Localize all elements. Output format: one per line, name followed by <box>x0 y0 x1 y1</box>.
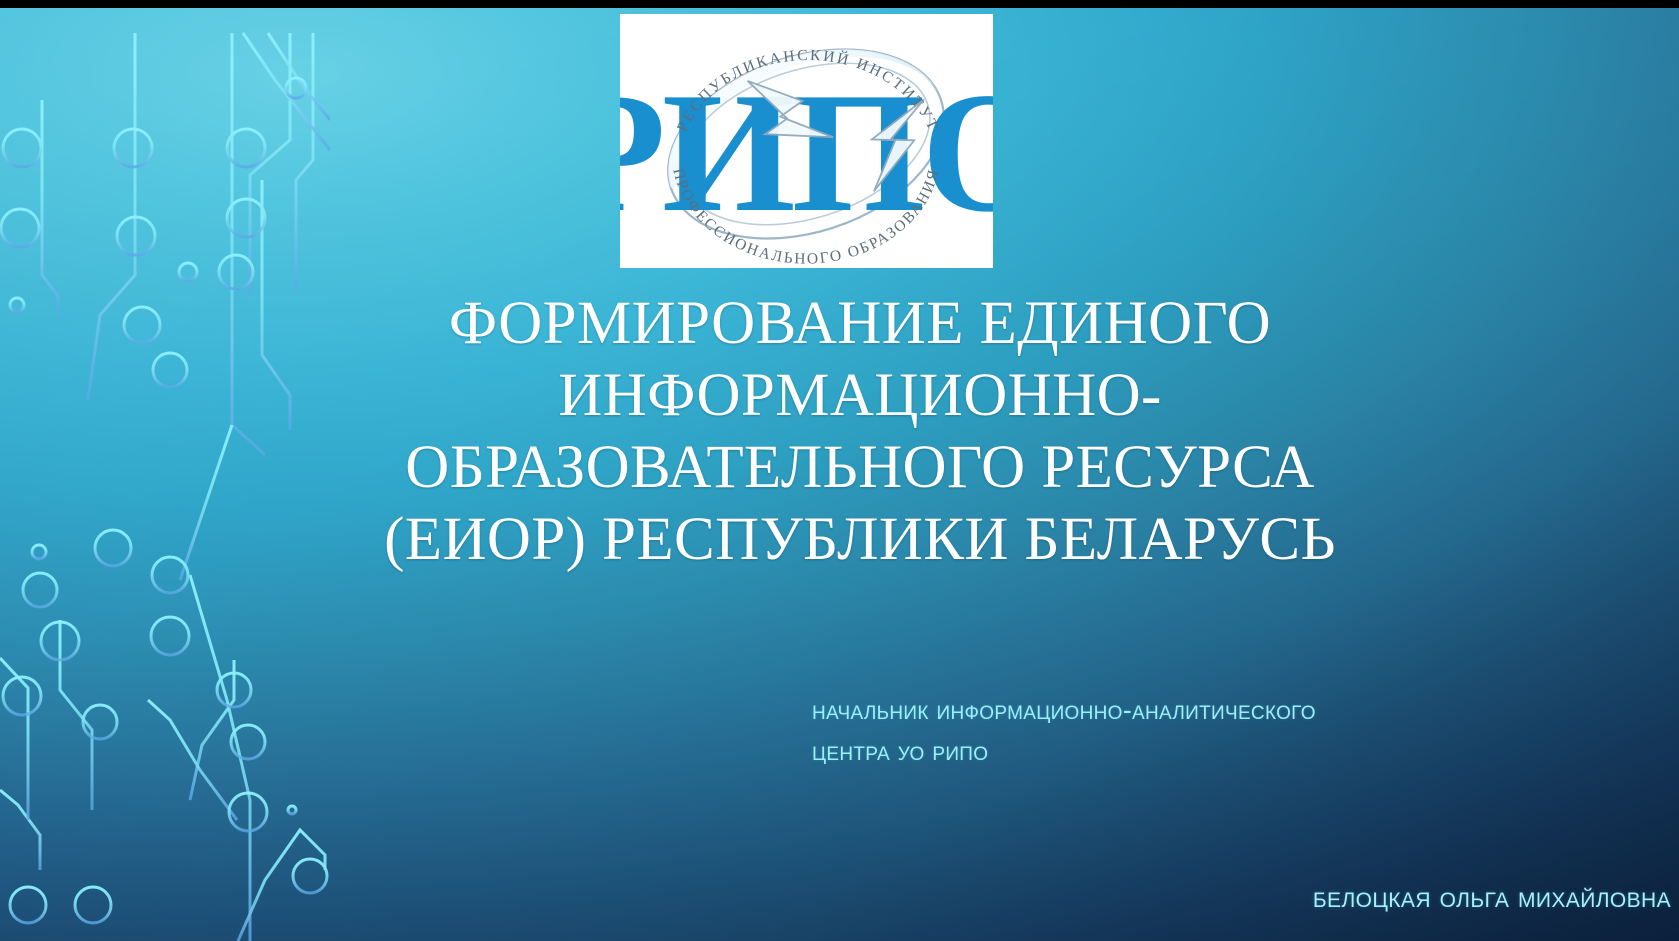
presenter-credit: БЕЛОЦКАЯ ОЛЬГА МИХАЙЛОВНА <box>971 878 1671 918</box>
letterbox-bar-top <box>0 0 1679 8</box>
slide-subtitle: НАЧАЛЬНИК ИНФОРМАЦИОННО-АНАЛИТИЧЕСКОГО Ц… <box>812 690 1552 772</box>
subtitle-line-2: ЦЕНТРА УО РИПО <box>812 731 1552 772</box>
svg-text:РИПО: РИПО <box>620 58 993 248</box>
slide-title: ФОРМИРОВАНИЕ ЕДИНОГО ИНФОРМАЦИОННО- ОБРА… <box>300 288 1420 576</box>
title-line-4: (ЕИОР) РЕСПУБЛИКИ БЕЛАРУСЬ <box>300 504 1420 576</box>
subtitle-line-1: НАЧАЛЬНИК ИНФОРМАЦИОННО-АНАЛИТИЧЕСКОГО <box>812 690 1552 731</box>
title-line-1: ФОРМИРОВАНИЕ ЕДИНОГО <box>300 288 1420 360</box>
ripo-logo: РИПО РЕСПУБЛИКАНСКИЙ ИНСТИТУТ ПРОФЕССИОН… <box>620 14 993 268</box>
presentation-slide: РИПО РЕСПУБЛИКАНСКИЙ ИНСТИТУТ ПРОФЕССИОН… <box>0 0 1679 941</box>
title-line-2: ИНФОРМАЦИОННО- <box>300 360 1420 432</box>
ripo-logo-graphic: РИПО РЕСПУБЛИКАНСКИЙ ИНСТИТУТ ПРОФЕССИОН… <box>620 14 993 268</box>
title-line-3: ОБРАЗОВАТЕЛЬНОГО РЕСУРСА <box>300 432 1420 504</box>
presenter-name: БЕЛОЦКАЯ ОЛЬГА МИХАЙЛОВНА <box>971 878 1671 918</box>
